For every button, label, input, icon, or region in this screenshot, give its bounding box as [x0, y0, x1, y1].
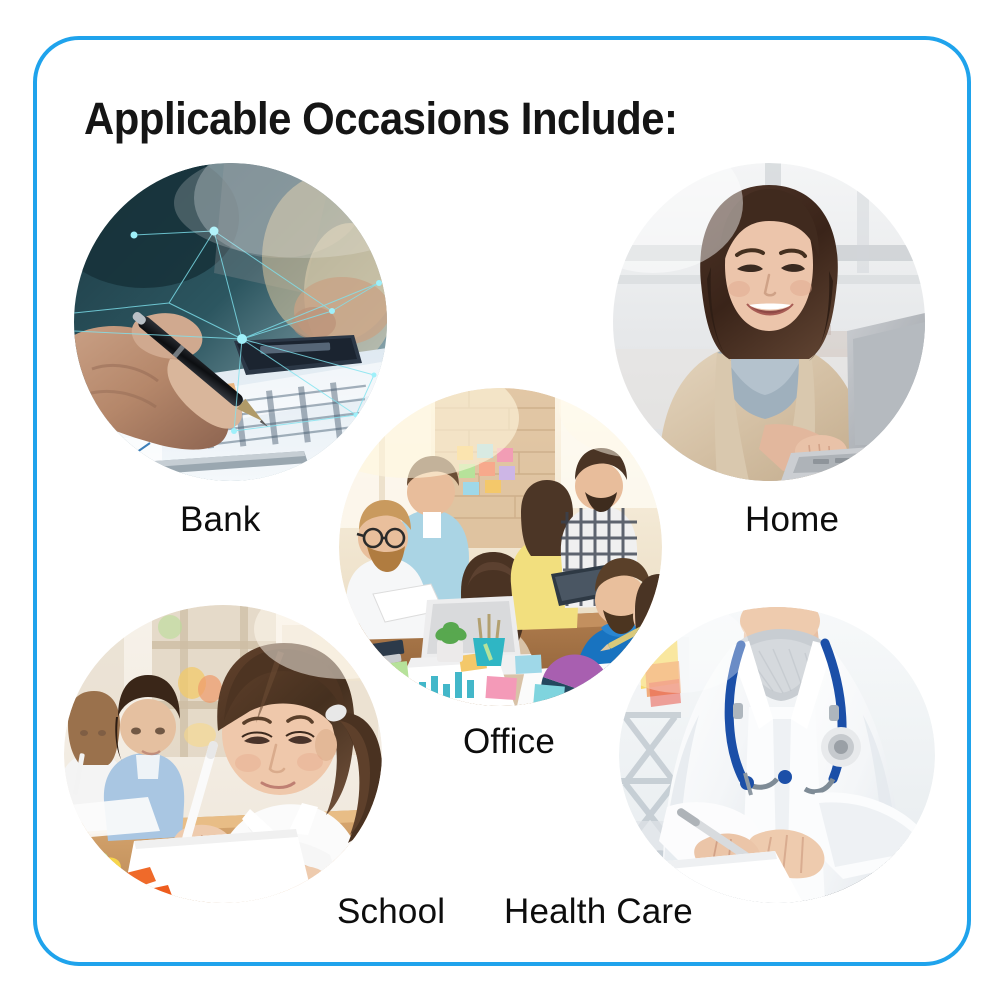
caption-office: Office [463, 722, 555, 762]
caption-home: Home [745, 500, 839, 540]
caption-health-care: Health Care [504, 892, 693, 932]
health-care-photo [619, 607, 935, 903]
school-photo [64, 605, 382, 903]
home-photo [613, 163, 925, 481]
page-title: Applicable Occasions Include: [84, 93, 678, 145]
office-photo [339, 388, 662, 706]
bank-photo [74, 163, 387, 481]
caption-bank: Bank [180, 500, 261, 540]
poster-root: Applicable Occasions Include: [0, 0, 1000, 1000]
caption-school: School [337, 892, 445, 932]
